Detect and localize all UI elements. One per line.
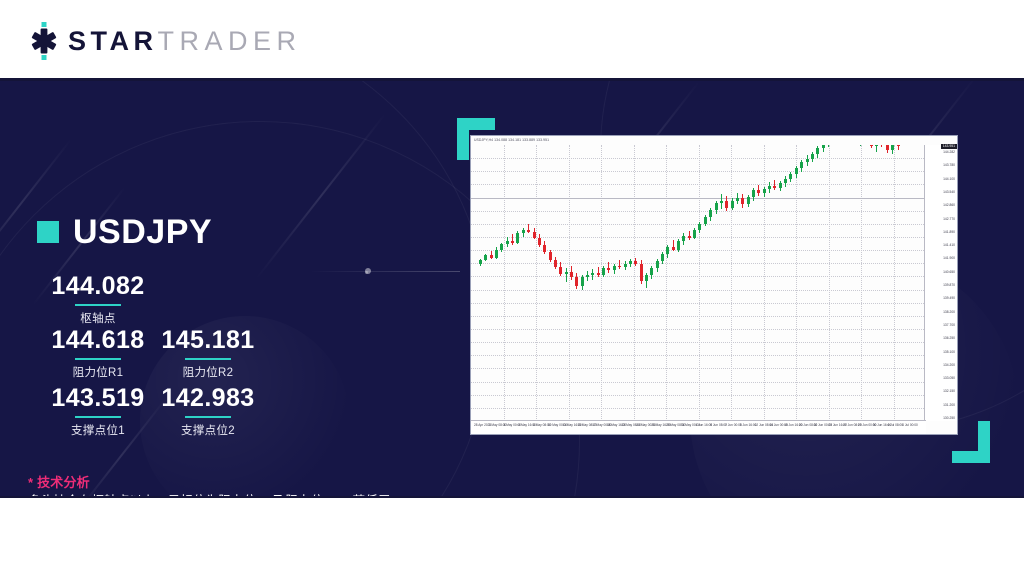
- candlestick: [720, 145, 723, 421]
- candlestick: [591, 145, 594, 421]
- candlestick: [538, 145, 541, 421]
- candlestick: [763, 145, 766, 421]
- price-axis-tick: 144.282: [943, 151, 955, 154]
- candlestick: [479, 145, 482, 421]
- current-price-label: 143.951: [941, 144, 957, 149]
- candlestick: [656, 145, 659, 421]
- candlestick: [549, 145, 552, 421]
- level-r2-caption: 阻力位R2: [148, 364, 268, 380]
- square-marker-icon: [37, 221, 59, 243]
- level-s2: 142.983 支撑点位2: [148, 385, 268, 438]
- candlestick: [741, 145, 744, 421]
- price-axis-tick: 143.540: [943, 191, 955, 194]
- level-s1: 143.519 支撑点位1: [38, 385, 158, 438]
- candlestick: [773, 145, 776, 421]
- brand-logo[interactable]: STAR TRADER: [26, 22, 302, 60]
- level-underline: [75, 358, 121, 360]
- level-pivot-value: 144.082: [38, 273, 158, 301]
- candlestick: [500, 145, 503, 421]
- level-r1-caption: 阻力位R1: [38, 364, 158, 380]
- candlestick: [864, 145, 867, 421]
- candlestick: [886, 145, 889, 421]
- level-s1-caption: 支撑点位1: [38, 422, 158, 438]
- candlestick: [779, 145, 782, 421]
- candlestick: [827, 145, 830, 421]
- candlestick: [581, 145, 584, 421]
- candlestick: [854, 145, 857, 421]
- price-axis-tick: 142.770: [943, 218, 955, 221]
- candlestick: [645, 145, 648, 421]
- price-axis-tick: 132.150: [943, 390, 955, 393]
- candlestick: [586, 145, 589, 421]
- price-axis-tick: 139.870: [943, 284, 955, 287]
- candlestick: [634, 145, 637, 421]
- price-axis-tick: 142.860: [943, 204, 955, 207]
- level-underline: [185, 358, 231, 360]
- price-axis-tick: 141.410: [943, 244, 955, 247]
- candlestick: [624, 145, 627, 421]
- candlestick: [575, 145, 578, 421]
- price-axis-tick: 141.890: [943, 231, 955, 234]
- level-r1-value: 144.618: [38, 327, 158, 355]
- candlestick: [731, 145, 734, 421]
- candlestick: [784, 145, 787, 421]
- level-pivot-caption: 枢轴点: [38, 310, 158, 326]
- candlestick: [811, 145, 814, 421]
- header: STAR TRADER: [0, 0, 1024, 80]
- candlestick: [597, 145, 600, 421]
- candlestick: [672, 145, 675, 421]
- brand-name-bold: STAR: [68, 28, 158, 55]
- candlestick: [752, 145, 755, 421]
- candlestick: [875, 145, 878, 421]
- poster-root: STAR TRADER USDJPY: [0, 0, 1024, 576]
- candlestick: [688, 145, 691, 421]
- candlestick: [816, 145, 819, 421]
- candlestick: [602, 145, 605, 421]
- level-underline: [185, 416, 231, 418]
- candlestick: [661, 145, 664, 421]
- candlestick: [822, 145, 825, 421]
- candlestick: [570, 145, 573, 421]
- brand-name-light: TRADER: [158, 28, 302, 55]
- price-axis-tick: 137.700: [943, 324, 955, 327]
- candlestick: [795, 145, 798, 421]
- instrument-symbol: USDJPY: [73, 215, 212, 249]
- price-axis-tick: 134.200: [943, 364, 955, 367]
- candlestick: [870, 145, 873, 421]
- level-underline: [75, 304, 121, 306]
- candlestick: [693, 145, 696, 421]
- candlestick: [757, 145, 760, 421]
- candlestick: [859, 145, 862, 421]
- price-axis-tick: 139.490: [943, 297, 955, 300]
- price-chart[interactable]: USDJPY,H4 134.088 134.181 133.889 133.95…: [470, 135, 958, 435]
- price-axis-tick: 144.100: [943, 178, 955, 181]
- candlestick: [698, 145, 701, 421]
- level-pivot: 144.082 枢轴点: [38, 273, 158, 326]
- level-s2-caption: 支撑点位2: [148, 422, 268, 438]
- candlestick: [618, 145, 621, 421]
- candlestick: [897, 145, 900, 421]
- candlestick: [554, 145, 557, 421]
- time-axis-tick: 4 Jul 08:00: [887, 424, 903, 427]
- candlestick: [832, 145, 835, 421]
- candlestick: [484, 145, 487, 421]
- candlestick: [848, 145, 851, 421]
- candlestick: [747, 145, 750, 421]
- price-axis-tick: 143.780: [943, 164, 955, 167]
- chart-plot-area[interactable]: [471, 145, 926, 421]
- candlestick: [613, 145, 616, 421]
- time-axis-tick: 6 Jul 00:00: [902, 424, 918, 427]
- price-axis-tick: 136.250: [943, 337, 955, 340]
- price-axis-tick: 138.200: [943, 311, 955, 314]
- candlestick: [880, 145, 883, 421]
- candlestick: [725, 145, 728, 421]
- price-axis-tick: 141.900: [943, 257, 955, 260]
- candlestick: [650, 145, 653, 421]
- candlestick: [522, 145, 525, 421]
- candlestick: [506, 145, 509, 421]
- candlestick: [704, 145, 707, 421]
- candlestick: [843, 145, 846, 421]
- grid-line-vertical: [536, 145, 537, 421]
- candlestick: [715, 145, 718, 421]
- level-s1-value: 143.519: [38, 385, 158, 413]
- level-s2-value: 142.983: [148, 385, 268, 413]
- candlestick: [607, 145, 610, 421]
- candlestick: [677, 145, 680, 421]
- candlestick: [891, 145, 894, 421]
- main-panel: USDJPY 144.082 枢轴点 144.618 阻力位R1 145.181…: [0, 81, 1024, 496]
- chart-price-axis[interactable]: 144.282143.780144.100143.540142.860142.7…: [924, 145, 957, 421]
- candlestick: [565, 145, 568, 421]
- price-axis-tick: 133.050: [943, 377, 955, 380]
- footer-divider: [0, 496, 1024, 498]
- candlestick: [629, 145, 632, 421]
- footer: 汇评 | 2023年7月07日: [0, 496, 1024, 576]
- price-axis-tick: 131.200: [943, 404, 955, 407]
- level-r2-value: 145.181: [148, 327, 268, 355]
- candlestick: [516, 145, 519, 421]
- candlestick: [490, 145, 493, 421]
- candlestick: [640, 145, 643, 421]
- candlestick: [682, 145, 685, 421]
- level-underline: [75, 416, 121, 418]
- price-axis-tick: 140.650: [943, 271, 955, 274]
- chart-title: USDJPY,H4 134.088 134.181 133.889 133.95…: [474, 138, 549, 142]
- candlestick: [768, 145, 771, 421]
- price-axis-tick: 135.100: [943, 351, 955, 354]
- candlestick: [511, 145, 514, 421]
- candlestick: [709, 145, 712, 421]
- candlestick: [838, 145, 841, 421]
- grid-line-vertical: [504, 145, 505, 421]
- candlestick: [666, 145, 669, 421]
- level-r1: 144.618 阻力位R1: [38, 327, 158, 380]
- candlestick: [789, 145, 792, 421]
- analysis-title: * 技术分析: [28, 472, 90, 491]
- candlestick: [495, 145, 498, 421]
- candlestick: [527, 145, 530, 421]
- instrument-header: USDJPY: [37, 215, 212, 249]
- candlestick: [736, 145, 739, 421]
- candlestick: [800, 145, 803, 421]
- level-r2: 145.181 阻力位R2: [148, 327, 268, 380]
- candlestick: [559, 145, 562, 421]
- price-axis-tick: 130.250: [943, 417, 955, 420]
- candlestick: [533, 145, 536, 421]
- candlestick: [543, 145, 546, 421]
- candlestick: [806, 145, 809, 421]
- star-asterisk-icon: [26, 22, 62, 60]
- chart-time-axis[interactable]: 28 Apr 20231 May 08:003 May 00:004 May 1…: [471, 420, 926, 434]
